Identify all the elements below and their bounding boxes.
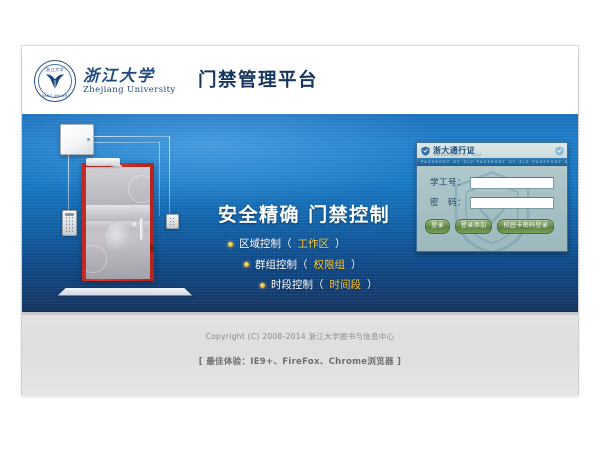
card-reader-keys [169, 217, 176, 226]
passport-shield-icon-right [555, 146, 564, 156]
door-closer-icon [86, 158, 120, 166]
site-footer: Copyright (C) 2008-2014 浙江大学图书与信息中心 [ 最佳… [22, 312, 578, 396]
banner-slogan: 安全精确 门禁控制 [218, 200, 390, 227]
bullet-dot-icon [228, 242, 233, 247]
feature-highlight: 时间段 [330, 279, 362, 292]
door-strike-plate [150, 245, 154, 252]
wire-right-vertical [169, 136, 170, 214]
page-root: 浙江大学 ZHEJIANG UNIVERSITY 浙江大学 Zhejiang U… [0, 0, 600, 450]
feature-highlight: 权限组 [314, 259, 346, 272]
feature-item-time-control: 时段控制（时间段） [260, 279, 418, 292]
keypad-keys [65, 216, 74, 232]
login-add-button[interactable]: 登录添加 [455, 219, 493, 234]
feature-item-area-control: 区域控制（工作区） [228, 238, 418, 251]
university-name-cn: 浙江大学 [83, 68, 176, 84]
site-card: 浙江大学 ZHEJIANG UNIVERSITY 浙江大学 Zhejiang U… [22, 46, 578, 395]
campus-card-password-login-button[interactable]: 校园卡密码登录 [497, 219, 554, 234]
wire-top-horizontal-2 [92, 142, 160, 143]
copyright-text: Copyright (C) 2008-2014 浙江大学图书与信息中心 [22, 331, 578, 342]
login-field-row-userid: 学工号： [426, 177, 554, 189]
card-reader-icon [166, 214, 179, 229]
login-button[interactable]: 登录 [425, 219, 450, 234]
wire-right-vertical-2 [159, 142, 160, 216]
wire-top-horizontal [92, 136, 170, 137]
password-input[interactable] [470, 197, 554, 209]
login-panel: 浙大通行证 PASSPORT OF ZJU PASSPORT OF ZJU PA… [416, 142, 568, 252]
door-knob-icon [132, 222, 138, 228]
userid-label: 学工号： [426, 179, 470, 188]
login-form: 学工号： 密 码： 登录 登录添加 校园卡密码登录 [417, 166, 567, 251]
login-button-group: 登录 登录添加 校园卡密码登录 [425, 219, 554, 234]
access-control-door-illustration [40, 118, 210, 308]
feature-label: 群组控制（ [255, 259, 308, 272]
zju-emblem-icon: 浙江大学 ZHEJIANG UNIVERSITY [34, 60, 76, 102]
feature-highlight: 工作区 [298, 238, 330, 251]
login-panel-header: 浙大通行证 PASSPORT OF ZJU [417, 143, 567, 159]
wire-left-vertical [68, 153, 69, 210]
keypad-reader-icon [62, 210, 77, 236]
door-handle-icon [140, 218, 144, 240]
site-header: 浙江大学 ZHEJIANG UNIVERSITY 浙江大学 Zhejiang U… [22, 46, 578, 114]
login-panel-subtitle: PASSPORT OF ZJU [434, 153, 482, 157]
feature-tail: ） [351, 259, 362, 272]
login-panel-marquee-strip: PASSPORT OF ZJU PASSPORT OF ZJU PASSPORT… [417, 158, 567, 166]
glass-swirl-a [128, 175, 150, 203]
banner-feature-list: 区域控制（工作区） 群组控制（权限组） 时段控制（时间段） [228, 238, 418, 300]
bullet-dot-icon [260, 283, 265, 288]
zju-logo[interactable]: 浙江大学 ZHEJIANG UNIVERSITY 浙江大学 Zhejiang U… [34, 60, 176, 102]
login-field-row-password: 密 码： [426, 197, 554, 209]
bullet-dot-icon [244, 262, 249, 267]
emblem-bird-icon [44, 72, 66, 92]
page-title: 门禁管理平台 [198, 72, 318, 91]
floor-plate [58, 288, 192, 295]
university-name-en: Zhejiang University [83, 86, 176, 95]
emblem-arc-bottom-text: ZHEJIANG UNIVERSITY [34, 94, 76, 98]
access-controller-box-icon [60, 124, 94, 155]
zju-wordmark: 浙江大学 Zhejiang University [83, 68, 176, 95]
feature-tail: ） [367, 279, 378, 292]
feature-label: 区域控制（ [239, 238, 292, 251]
feature-tail: ） [335, 238, 346, 251]
footer-top-shadow [22, 313, 578, 316]
browser-recommendation-text: [ 最佳体验：IE9+、FireFox、Chrome浏览器 ] [22, 355, 578, 367]
feature-label: 时段控制（ [271, 279, 324, 292]
feature-item-group-control: 群组控制（权限组） [244, 259, 418, 272]
hero-banner: 安全精确 门禁控制 区域控制（工作区） 群组控制（权限组） 时段控制（时间段） [22, 114, 578, 312]
userid-input[interactable] [470, 177, 554, 189]
passport-shield-icon [421, 146, 430, 156]
glass-swirl-b [86, 245, 107, 273]
marquee-text: PASSPORT OF ZJU PASSPORT OF ZJU PASSPORT… [417, 160, 567, 164]
password-label: 密 码： [426, 199, 470, 208]
